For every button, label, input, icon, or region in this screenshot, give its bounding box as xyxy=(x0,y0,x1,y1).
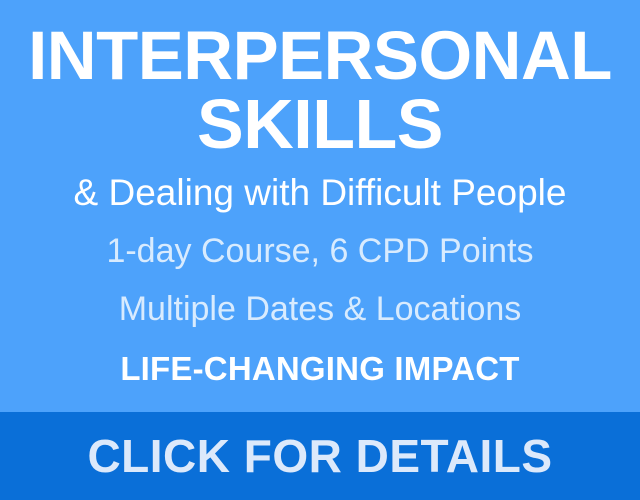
headline-line-2: SKILLS xyxy=(0,90,640,159)
course-detail-dates-locations: Multiple Dates & Locations xyxy=(119,292,522,326)
impact-statement: LIFE-CHANGING IMPACT xyxy=(120,352,519,385)
course-detail-duration: 1-day Course, 6 CPD Points xyxy=(106,234,533,268)
cta-button[interactable]: CLICK FOR DETAILS xyxy=(0,412,640,500)
cta-button-label: CLICK FOR DETAILS xyxy=(87,433,552,479)
banner-subheading: & Dealing with Difficult People xyxy=(74,174,567,211)
headline-block: INTERPERSONAL SKILLS xyxy=(0,22,640,160)
headline-line-1: INTERPERSONAL xyxy=(0,22,640,90)
advertisement-banner[interactable]: INTERPERSONAL SKILLS & Dealing with Diff… xyxy=(0,0,640,500)
banner-message-area: INTERPERSONAL SKILLS & Dealing with Diff… xyxy=(0,0,640,412)
